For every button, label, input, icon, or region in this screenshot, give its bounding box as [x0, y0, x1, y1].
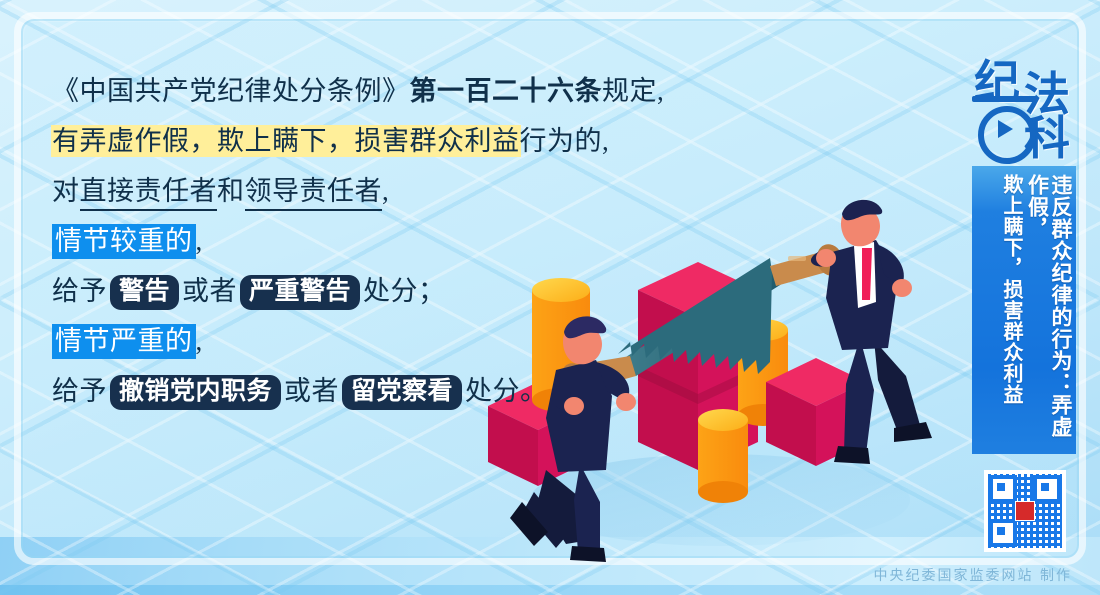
text-line-4: 情节较重的, [52, 216, 652, 266]
line5-tail: 处分； [363, 276, 446, 306]
right-side-panel: 纪 法 百 科 违反群众纪律的行为：弄虚作假， 欺上瞒下，损害群众利益 [966, 34, 1084, 534]
line1-tail: 规定, [602, 76, 664, 106]
penalty-pill-probation: 留党察看 [342, 375, 462, 410]
text-line-7: 给予撤销党内职务或者留党察看处分。 [52, 366, 652, 416]
orange-cylinder-front [698, 409, 748, 503]
line6-tail: , [196, 326, 203, 356]
play-button-icon [998, 120, 1013, 138]
line3-tail: , [382, 176, 389, 206]
underlined-term-direct-responsible: 直接责任者 [80, 176, 218, 212]
qr-eye-top-left [989, 475, 1017, 503]
line2-tail: 行为的, [520, 126, 610, 156]
qr-code[interactable] [984, 470, 1066, 552]
qr-code-pattern [988, 474, 1062, 548]
underlined-term-leadership-responsible: 领导责任者 [245, 176, 383, 212]
text-line-3: 对直接责任者和领导责任者, [52, 166, 652, 216]
line3-mid: 和 [217, 176, 245, 206]
line7-mid: 或者 [284, 376, 339, 406]
text-line-1: 《中国共产党纪律处分条例》第一百二十六条规定, [52, 66, 652, 116]
line5-pre: 给予 [52, 276, 107, 306]
logo-bar [972, 96, 1038, 102]
line7-pre: 给予 [52, 376, 107, 406]
regulation-title: 《中国共产党纪律处分条例》 [52, 76, 410, 106]
qr-eye-bottom-left [989, 519, 1017, 547]
text-line-6: 情节严重的, [52, 316, 652, 366]
line3-pre: 对 [52, 176, 80, 206]
poster-canvas: 《中国共产党纪律处分条例》第一百二十六条规定, 有弄虚作假，欺上瞒下，损害群众利… [0, 0, 1100, 595]
penalty-pill-warning: 警告 [110, 275, 179, 310]
penalty-pill-remove-post: 撤销党内职务 [110, 375, 281, 410]
vertical-text-column-1: 违反群众纪律的行为：弄虚作假， [1025, 174, 1072, 446]
penalty-pill-serious-warning: 严重警告 [240, 275, 360, 310]
article-number: 第一百二十六条 [410, 76, 603, 106]
qr-center-seal [1015, 501, 1035, 521]
vertical-title-banner: 违反群众纪律的行为：弄虚作假， 欺上瞒下，损害群众利益 [972, 166, 1076, 454]
blue-highlight-severe: 情节严重的 [52, 324, 196, 359]
vertical-text-column-2: 欺上瞒下，损害群众利益 [1001, 174, 1023, 446]
article-text-block: 《中国共产党纪律处分条例》第一百二十六条规定, 有弄虚作假，欺上瞒下，损害群众利… [52, 66, 652, 416]
line7-tail: 处分。 [465, 376, 548, 406]
text-line-2: 有弄虚作假，欺上瞒下，损害群众利益行为的, [52, 116, 652, 166]
blue-highlight-moderate: 情节较重的 [52, 224, 196, 259]
line4-tail: , [196, 226, 203, 256]
qr-eye-top-right [1033, 475, 1061, 503]
line5-mid: 或者 [182, 276, 237, 306]
text-line-5: 给予警告或者严重警告处分； [52, 266, 652, 316]
brand-logo[interactable]: 纪 法 百 科 [970, 46, 1080, 158]
credit-line: 中央纪委国家监委网站 制作 [874, 565, 1072, 585]
yellow-highlight-phrase: 有弄虚作假，欺上瞒下，损害群众利益 [52, 126, 520, 156]
